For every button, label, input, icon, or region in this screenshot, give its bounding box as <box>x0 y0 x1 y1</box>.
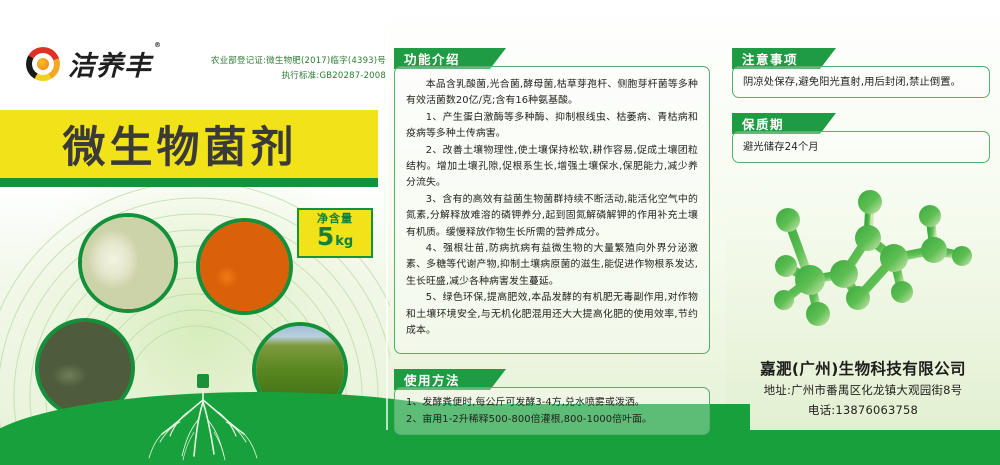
photo-oranges <box>196 218 293 315</box>
company-phone: 电话:13876063758 <box>732 400 994 420</box>
features-text: 本品含乳酸菌,光合菌,酵母菌,枯草芽孢杆、侧胞芽杆菌等多种有效活菌数20亿/克;… <box>406 77 698 340</box>
notice-text: 阴凉处保存,避免阳光直射,用后封闭,禁止倒置。 <box>743 74 961 90</box>
usage-text: 1、发酵粪便时,每公斤可发酵3-4方,兑水喷雾或泼洒。 2、亩用1-2升稀释50… <box>406 394 698 428</box>
usage-item: 1、发酵粪便时,每公斤可发酵3-4方,兑水喷雾或泼洒。 <box>406 394 698 411</box>
plant-root-graphic <box>118 372 288 464</box>
features-box: 本品含乳酸菌,光合菌,酵母菌,枯草芽孢杆、侧胞芽杆菌等多种有效活菌数20亿/克;… <box>394 66 710 354</box>
page-title: 微生物菌剂 <box>0 110 360 178</box>
features-item: 3、含有的高效有益菌生物菌群持续不断活动,能活化空气中的氮素,分解释放难溶的磷钾… <box>406 192 698 241</box>
photo-white-eggplant <box>78 213 178 313</box>
product-label: 洁养丰 ® 农业部登记证:微生物肥(2017)临字(4393)号 执行标准:GB… <box>0 0 1000 465</box>
net-weight-unit: kg <box>335 230 353 254</box>
brand-name: 洁养丰 ® <box>68 44 152 83</box>
brand-name-text: 洁养丰 <box>68 51 152 82</box>
notice-box: 阴凉处保存,避免阳光直射,用后封闭,禁止倒置。 <box>732 66 990 98</box>
registration-info: 农业部登记证:微生物肥(2017)临字(4393)号 执行标准:GB20287-… <box>186 54 386 84</box>
shelf-life-text: 避光储存24个月 <box>743 139 819 155</box>
registration-line-1: 农业部登记证:微生物肥(2017)临字(4393)号 <box>186 54 386 69</box>
molecule-graphic-icon <box>738 188 1000 348</box>
registration-line-2: 执行标准:GB20287-2008 <box>186 69 386 84</box>
flower-circle-logo-icon <box>26 47 60 81</box>
features-item: 2、改善土壤物理性,使土壤保持松软,耕作容易,促成土壤团粒结构。增加土壤孔隙,促… <box>406 143 698 192</box>
company-address: 地址:广州市番禺区化龙镇大观园街8号 <box>732 380 994 400</box>
features-item: 4、强根壮苗,防病抗病有益微生物的大量繁殖向外界分泌激素、多糖等代谢产物,抑制土… <box>406 241 698 290</box>
net-weight-badge: 净含量 5 kg <box>297 208 373 258</box>
features-item: 5、绿色环保,提高肥效,本品发酵的有机肥无毒副作用,对作物和土壤环境安全,与无机… <box>406 290 698 339</box>
shelf-life-box: 避光储存24个月 <box>732 131 990 163</box>
title-underline <box>0 178 378 187</box>
company-name: 嘉淝(广州)生物科技有限公司 <box>732 358 994 380</box>
registered-mark: ® <box>154 41 162 49</box>
brand-logo: 洁养丰 ® <box>26 44 152 83</box>
features-item: 1、产生蛋白激酶等多种酶、抑制根线虫、枯萎病、青枯病和疫病等多种土传病害。 <box>406 110 698 143</box>
usage-box: 1、发酵粪便时,每公斤可发酵3-4方,兑水喷雾或泼洒。 2、亩用1-2升稀释50… <box>394 387 710 435</box>
net-weight-value: 5 <box>317 225 334 249</box>
panel-divider <box>386 0 388 430</box>
features-intro: 本品含乳酸菌,光合菌,酵母菌,枯草芽孢杆、侧胞芽杆菌等多种有效活菌数20亿/克;… <box>406 77 698 110</box>
company-info: 嘉淝(广州)生物科技有限公司 地址:广州市番禺区化龙镇大观园街8号 电话:138… <box>732 358 994 420</box>
usage-item: 2、亩用1-2升稀释500-800倍灌根,800-1000倍叶面。 <box>406 411 698 428</box>
